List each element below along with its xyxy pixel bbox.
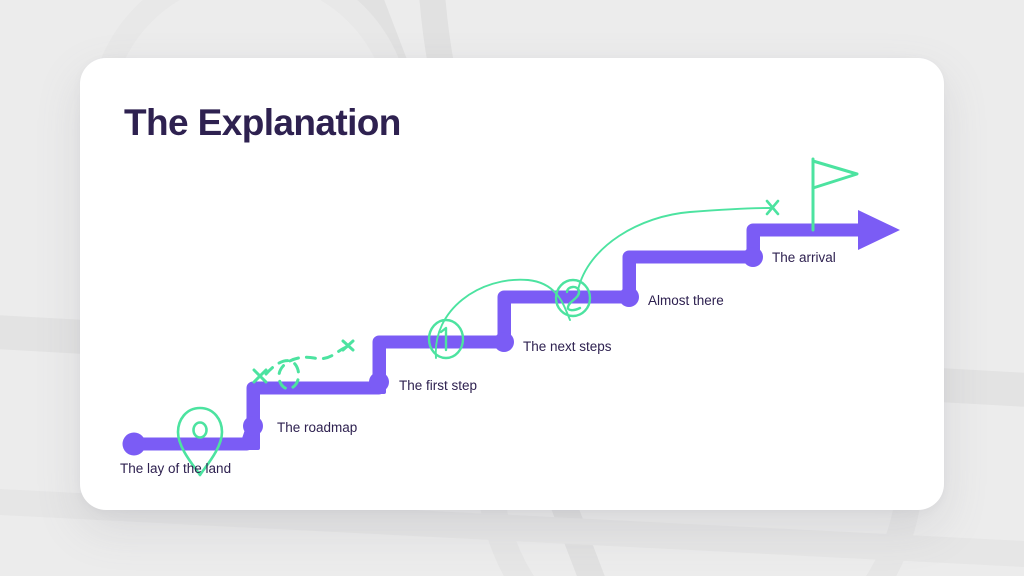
step-nodes — [123, 247, 764, 456]
step-node-3[interactable] — [369, 372, 389, 392]
step-label-5: Almost there — [648, 294, 724, 308]
arc-two-to-flag — [578, 208, 770, 290]
step-label-4: The next steps — [523, 340, 612, 354]
staircase-diagram — [80, 58, 944, 510]
slide-canvas: The Explanation — [0, 0, 1024, 576]
route-start-x-icon — [254, 370, 266, 382]
step-label-6: The arrival — [772, 251, 836, 265]
step-node-1[interactable] — [123, 433, 146, 456]
step-label-2: The roadmap — [277, 421, 357, 435]
flag-icon — [813, 159, 857, 230]
arrow-head-icon — [858, 210, 900, 250]
step-label-3: The first step — [399, 379, 477, 393]
step-node-2[interactable] — [243, 416, 263, 436]
step-node-6[interactable] — [743, 247, 763, 267]
step-node-5[interactable] — [619, 287, 639, 307]
step-label-1: The lay of the land — [120, 462, 231, 476]
step-node-4[interactable] — [494, 332, 514, 352]
route-end-x-icon — [343, 341, 353, 350]
slide-card: The Explanation — [80, 58, 944, 510]
